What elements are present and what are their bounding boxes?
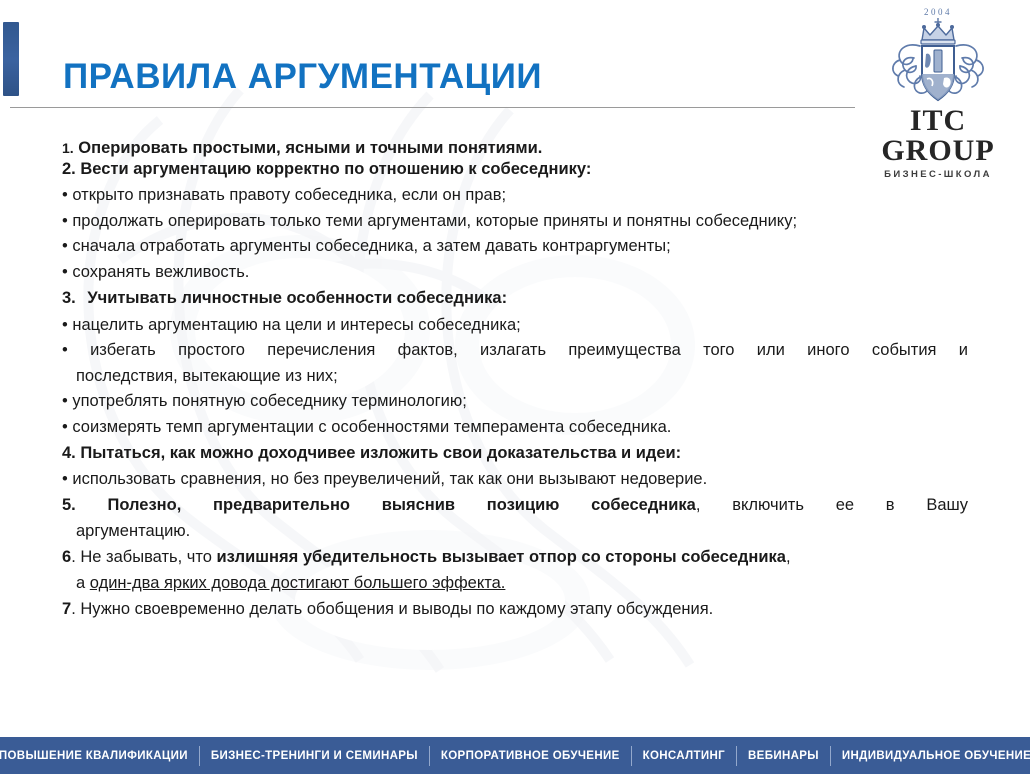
body-line-7: 3. Учитывать личностные особенности собе…: [62, 290, 968, 307]
item-6-mid: . Не забывать, что: [71, 548, 216, 566]
item-text-3: Учитывать личностные особенности собесед…: [87, 289, 507, 307]
item-5-bold: 5. Полезно, предварительно выяснив позиц…: [62, 496, 696, 514]
body-line-9: • избегать простого перечисления фактов,…: [62, 342, 968, 359]
slide-canvas: ПРАВИЛА АРГУМЕНТАЦИИ 2004: [0, 0, 1030, 774]
footer-item-5[interactable]: ИНДИВИДУАЛЬНОЕ ОБУЧЕНИЕ: [831, 750, 1030, 762]
item-6-underlined: один-два ярких довода достигают большего…: [90, 574, 506, 592]
item-text-1: Оперировать простыми, ясными и точными п…: [78, 139, 542, 157]
crest-icon: 2004: [874, 4, 1002, 108]
slide-body: 1. Оперировать простыми, ясными и точным…: [62, 140, 968, 624]
body-line-15: 5. Полезно, предварительно выяснив позиц…: [62, 497, 968, 514]
body-line-2: 2. Вести аргументацию корректно по отнош…: [62, 161, 968, 178]
item-5-rest: , включить ее в Вашу: [696, 496, 968, 514]
body-line-8: • нацелить аргументацию на цели и интере…: [62, 317, 968, 334]
footer-item-4[interactable]: ВЕБИНАРЫ: [737, 750, 830, 762]
body-line-18: а один-два ярких довода достигают больше…: [62, 575, 968, 592]
body-line-6: • сохранять вежливость.: [62, 264, 968, 281]
footer-item-3[interactable]: КОНСАЛТИНГ: [632, 750, 736, 762]
item-number-1: 1.: [62, 140, 74, 156]
footer-item-2[interactable]: КОРПОРАТИВНОЕ ОБУЧЕНИЕ: [430, 750, 631, 762]
body-line-11: • употреблять понятную собеседнику терми…: [62, 393, 968, 410]
body-line-1: 1. Оперировать простыми, ясными и точным…: [62, 140, 968, 157]
logo-wordmark: ITC GROUP: [858, 106, 1018, 166]
page-title: ПРАВИЛА АРГУМЕНТАЦИИ: [63, 57, 542, 97]
item-6-bold: излишняя убедительность вызывает отпор с…: [217, 548, 786, 566]
item-number-7: 7: [62, 600, 71, 618]
footer-nav: ПОВЫШЕНИЕ КВАЛИФИКАЦИИ БИЗНЕС-ТРЕНИНГИ И…: [0, 737, 1030, 774]
footer-item-1[interactable]: БИЗНЕС-ТРЕНИНГИ И СЕМИНАРЫ: [200, 750, 429, 762]
body-line-3: • открыто признавать правоту собеседника…: [62, 187, 968, 204]
body-line-14: • использовать сравнения, но без преувел…: [62, 471, 968, 488]
logo: 2004: [858, 4, 1018, 180]
item-text-7: . Нужно своевременно делать обобщения и …: [71, 600, 713, 618]
logo-tagline: БИЗНЕС-ШКОЛА: [858, 169, 1018, 180]
body-line-13: 4. Пытаться, как можно доходчивее изложи…: [62, 445, 968, 462]
body-line-17: 6. Не забывать, что излишняя убедительно…: [62, 549, 968, 566]
title-divider: [10, 107, 855, 108]
body-line-10: последствия, вытекающие из них;: [62, 368, 968, 385]
item-6-post: ,: [786, 548, 791, 566]
body-line-5: • сначала отработать аргументы собеседни…: [62, 238, 968, 255]
item-number-6: 6: [62, 548, 71, 566]
body-line-4: • продолжать оперировать только теми арг…: [62, 213, 968, 230]
item-number-3: 3.: [62, 289, 76, 307]
body-line-19: 7. Нужно своевременно делать обобщения и…: [62, 601, 968, 618]
footer-item-0[interactable]: ПОВЫШЕНИЕ КВАЛИФИКАЦИИ: [0, 750, 199, 762]
title-accent-bar: [3, 22, 19, 96]
body-line-12: • соизмерять темп аргументации с особенн…: [62, 419, 968, 436]
body-line-16: аргументацию.: [62, 523, 968, 540]
svg-text:2004: 2004: [924, 7, 952, 17]
item-6-cont-pre: а: [76, 574, 90, 592]
